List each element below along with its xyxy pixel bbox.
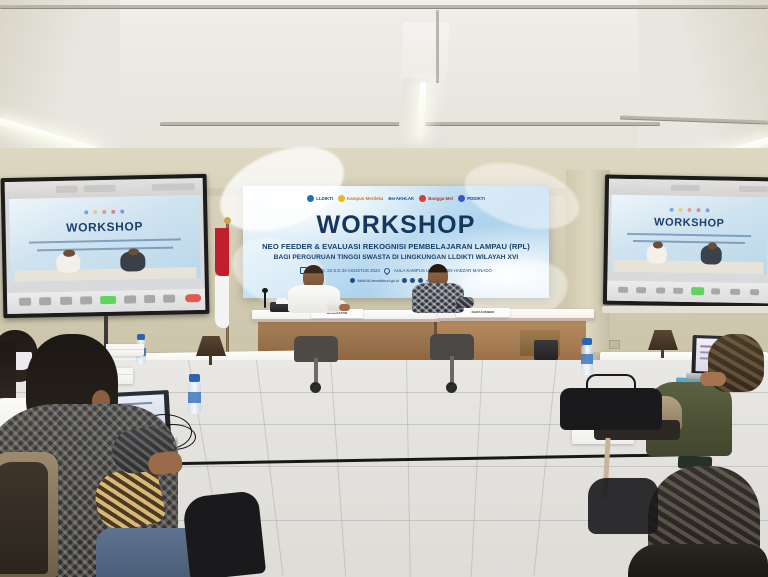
pddikti-logo-label: PDDIKTI bbox=[467, 196, 485, 201]
backpack-lower-right bbox=[588, 478, 658, 534]
right-zoom-video-icon[interactable] bbox=[636, 287, 646, 294]
right-mini-workshop-title: WORKSHOP bbox=[611, 215, 767, 230]
right-mini-logo-5 bbox=[705, 208, 709, 212]
bangga-logo-label: Bangga Melayani Bangsa bbox=[428, 196, 453, 201]
lldikti-logo-label: LLDIKTI bbox=[316, 196, 333, 201]
bangga-logo-mark bbox=[419, 195, 426, 202]
banner-email: lldikti16.kemdikbud.go.id bbox=[358, 279, 399, 283]
duffel-bag bbox=[560, 388, 662, 430]
globe-icon bbox=[350, 278, 355, 283]
microphone-left-head bbox=[262, 288, 268, 293]
youtube-icon bbox=[418, 278, 423, 283]
banner-logo-row: LLDIKTI Kampus Merdeka BerAKHLAK Bangga … bbox=[243, 195, 549, 202]
right-zoom-participants-icon[interactable] bbox=[656, 287, 666, 294]
left-mini-speaker-a-head bbox=[63, 249, 75, 257]
right-mini-speaker-b-head bbox=[708, 242, 717, 249]
water-bottle-3-label bbox=[581, 354, 593, 364]
right-screen-surface: WORKSHOP bbox=[607, 179, 768, 304]
right-zoom-tab-a bbox=[670, 184, 699, 191]
berakhlak-logo: BerAKHLAK bbox=[388, 196, 414, 201]
left-mini-subtitle-line-1 bbox=[29, 239, 181, 244]
facebook-icon bbox=[402, 278, 407, 283]
speaker-narasumber-torso bbox=[412, 283, 464, 313]
left-mini-logo-4 bbox=[111, 210, 115, 214]
left-zoom-tab-c bbox=[151, 183, 195, 191]
right-zoom-shared-stage: WORKSHOP bbox=[611, 195, 768, 275]
right-screen-frame: WORKSHOP bbox=[603, 175, 768, 308]
pddikti-logo: PDDIKTI bbox=[458, 195, 485, 202]
duffel-bag-handle bbox=[586, 374, 636, 394]
left-screen-surface: WORKSHOP bbox=[5, 178, 206, 314]
right-zoom-share-screen-icon[interactable] bbox=[691, 287, 704, 295]
left-mini-logo-row bbox=[9, 208, 199, 216]
location-pin-icon bbox=[383, 266, 391, 274]
left-zoom-toolbar[interactable] bbox=[7, 289, 205, 314]
right-mini-speaker-a-head bbox=[653, 241, 662, 248]
snack-box-2-lid bbox=[106, 344, 144, 350]
right-zoom-tab-b bbox=[738, 186, 767, 193]
left-mini-logo-1 bbox=[84, 211, 88, 215]
desk-lamp-stem-right bbox=[661, 349, 664, 358]
left-mini-logo-3 bbox=[102, 210, 106, 214]
speaker-narasumber-arm bbox=[456, 297, 474, 308]
left-zoom-share-screen-icon[interactable] bbox=[100, 295, 116, 304]
ceiling-conduit-drop bbox=[436, 10, 439, 82]
flag-finial bbox=[224, 217, 231, 224]
left-zoom-more-icon[interactable] bbox=[163, 295, 175, 302]
placard-narasumber: NARASUMBER bbox=[456, 308, 510, 317]
attendee-batik-foreground-jeans bbox=[96, 528, 196, 577]
kampus-merdeka-logo: Kampus Merdeka bbox=[338, 195, 383, 202]
left-zoom-reactions-icon[interactable] bbox=[144, 295, 156, 302]
left-zoom-shared-stage: WORKSHOP bbox=[9, 195, 201, 282]
water-bottle-2-cap bbox=[189, 374, 200, 382]
right-mini-logo-2 bbox=[678, 208, 682, 212]
left-zoom-video-icon[interactable] bbox=[39, 298, 51, 305]
left-mini-table bbox=[14, 267, 197, 282]
tissue-sheet bbox=[276, 298, 288, 304]
right-zoom-record-icon[interactable] bbox=[711, 288, 721, 295]
right-mini-logo-row bbox=[612, 207, 768, 214]
right-zoom-mute-icon[interactable] bbox=[618, 286, 628, 293]
speaker-moderator-hand bbox=[339, 304, 350, 311]
left-screen-frame: WORKSHOP bbox=[1, 174, 210, 318]
flag-white-band bbox=[215, 276, 229, 328]
left-zoom-tab-b bbox=[84, 185, 116, 193]
left-zoom-end-button[interactable] bbox=[185, 294, 201, 302]
right-zoom-chat-icon[interactable] bbox=[673, 287, 683, 294]
instagram-icon bbox=[410, 278, 415, 283]
chair-head-table-right-post bbox=[450, 356, 454, 384]
right-mini-logo-4 bbox=[696, 208, 700, 212]
lldikti-logo: LLDIKTI bbox=[307, 195, 333, 202]
left-mini-subtitle-line-2 bbox=[37, 246, 174, 251]
right-mini-subtitle-line-2 bbox=[633, 240, 745, 244]
wall-outlet bbox=[609, 340, 620, 349]
pddikti-logo-mark bbox=[458, 195, 465, 202]
banner-title: WORKSHOP bbox=[243, 212, 549, 238]
lldikti-logo-mark bbox=[307, 195, 314, 202]
attendee-batik-foreground-hand bbox=[147, 450, 183, 475]
snack-box-2 bbox=[106, 344, 144, 356]
kampus-merdeka-logo-label: Kampus Merdeka bbox=[347, 196, 383, 201]
right-mini-logo-1 bbox=[669, 208, 673, 212]
head-table-edge-left bbox=[252, 319, 440, 322]
left-zoom-tab-a bbox=[56, 186, 78, 193]
right-screen-ledge bbox=[602, 306, 768, 313]
water-bottle-1-cap bbox=[137, 334, 145, 340]
desk-lamp-stem bbox=[209, 355, 212, 365]
microphone-left bbox=[264, 292, 266, 308]
water-bottle-2-label bbox=[188, 392, 201, 403]
chair-head-table-left-post bbox=[314, 358, 318, 384]
left-zoom-record-icon[interactable] bbox=[124, 296, 136, 303]
attendee-hijab-right-shoulder bbox=[628, 544, 768, 577]
attendee-batik-foreground-chair-inner bbox=[0, 462, 48, 574]
bangga-melayani-bangsa-logo: Bangga Melayani Bangsa bbox=[419, 195, 453, 202]
banner-social-row: lldikti16.kemdikbud.go.id @lldikti16 bbox=[243, 278, 549, 283]
right-mini-logo-3 bbox=[687, 208, 691, 212]
left-zoom-participants-icon[interactable] bbox=[61, 297, 73, 304]
banner-meta-row: KAMIS, 23 S.D 24 AGUSTUS 2023 AULA KAMPU… bbox=[243, 267, 549, 274]
left-zoom-mute-icon[interactable] bbox=[19, 298, 31, 305]
left-mini-logo-2 bbox=[93, 211, 97, 215]
right-mini-table bbox=[614, 260, 763, 274]
right-mini-subtitle-line-1 bbox=[627, 233, 751, 237]
attendee-olive-jacket-hand bbox=[700, 372, 726, 386]
kampus-merdeka-logo-mark bbox=[338, 195, 345, 202]
banner-subtitle-2: BAGI PERGURUAN TINGGI SWASTA DI LINGKUNG… bbox=[243, 254, 549, 261]
water-bottle-3-cap bbox=[582, 338, 592, 345]
berakhlak-logo-label: BerAKHLAK bbox=[388, 196, 414, 201]
chair-head-table-left-caster bbox=[310, 382, 321, 393]
left-mini-workshop-title: WORKSHOP bbox=[9, 218, 199, 236]
head-table-edge-right bbox=[438, 318, 594, 321]
right-zoom-more-icon[interactable] bbox=[750, 289, 760, 296]
right-zoom-reactions-icon[interactable] bbox=[730, 288, 740, 295]
left-mini-logo-5 bbox=[120, 210, 124, 214]
ceiling-slope-right bbox=[638, 0, 768, 150]
left-zoom-chat-icon[interactable] bbox=[80, 297, 92, 304]
ceiling-conduit-top bbox=[0, 5, 768, 8]
flag-red-band bbox=[215, 228, 229, 276]
banner-subtitle: NEO FEEDER & EVALUASI REKOGNISI PEMBELAJ… bbox=[243, 242, 549, 251]
placard-narasumber-label: NARASUMBER bbox=[456, 311, 510, 315]
backpack-on-floor bbox=[182, 490, 266, 577]
event-banner: LLDIKTI Kampus Merdeka BerAKHLAK Bangga … bbox=[243, 186, 549, 298]
right-zoom-toolbar[interactable] bbox=[607, 281, 768, 303]
chair-head-table-right-caster bbox=[446, 382, 457, 393]
photo-scene: WORKSHOP bbox=[0, 0, 768, 577]
av-equipment-stack bbox=[534, 340, 558, 360]
